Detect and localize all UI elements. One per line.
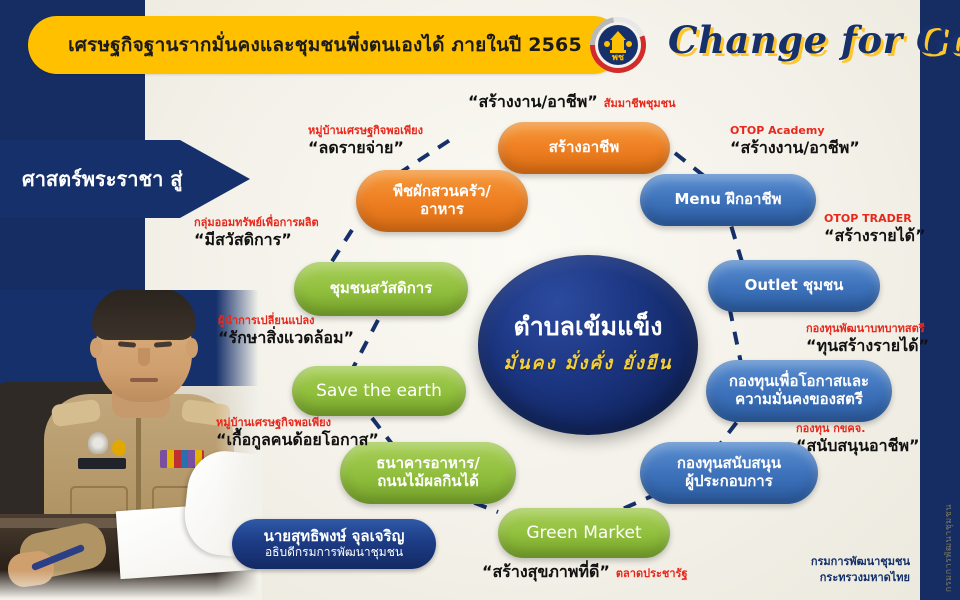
header-banner-title: เศรษฐกิจฐานรากมั่นคงและชุมชนพึ่งตนเองได้… — [68, 30, 582, 60]
right-navy-band: กรมการพัฒนาชุมชน — [920, 0, 960, 600]
annotation-otop-trader: OTOP TRADER “สร้างรายได้” — [824, 212, 926, 247]
annotation-mooban-kuea-quote: “เกื้อกูลคนด้อยโอกาส” — [216, 430, 379, 451]
annotation-bathabat: กองทุนพัฒนาบทบาทสตรี “ทุนสร้างรายได้” — [806, 322, 929, 357]
annotation-otop-academy: OTOP Academy “สร้างงาน/อาชีพ” — [730, 124, 860, 159]
annotation-otop-trader-source: OTOP TRADER — [824, 212, 926, 226]
director-name: นายสุทธิพงษ์ จุลเจริญ — [264, 528, 405, 545]
annotation-kkj: กองทุน กขคจ. “สนับสนุนอาชีพ” — [796, 422, 920, 457]
annotation-otop-trader-quote: “สร้างรายได้” — [824, 226, 926, 247]
annotation-mooban-lod: หมู่บ้านเศรษฐกิจพอเพียง “ลดรายจ่าย” — [308, 124, 423, 159]
node-menu-fuek-archeep[interactable]: Menu ฝึกอาชีพ — [640, 174, 816, 226]
annotation-klum-omsap: กลุ่มออมทรัพย์เพื่อการผลิต “มีสวัสดิการ” — [194, 216, 319, 251]
footer-line-1: กรมการพัฒนาชุมชน — [811, 554, 910, 570]
annotation-sammacheep: “สร้างงาน/อาชีพ” สัมมาชีพชุมชน — [468, 92, 676, 113]
annotation-talad-quote: “สร้างสุขภาพที่ดี” — [482, 562, 610, 583]
annotation-talad-source: ตลาดประชารัฐ — [616, 567, 688, 581]
director-position: อธิบดีกรมการพัฒนาชุมชน — [265, 545, 403, 559]
node-chumchon-sawatdikan[interactable]: ชุมชนสวัสดิการ — [294, 262, 468, 316]
annotation-mooban-lod-source: หมู่บ้านเศรษฐกิจพอเพียง — [308, 124, 423, 138]
header-banner: เศรษฐกิจฐานรากมั่นคงและชุมชนพึ่งตนเองได้… — [28, 16, 622, 74]
annotation-talad: “สร้างสุขภาพที่ดี” ตลาดประชารัฐ — [482, 562, 688, 583]
annotation-mooban-kuea-source: หมู่บ้านเศรษฐกิจพอเพียง — [216, 416, 379, 430]
footer-credit: กรมการพัฒนาชุมชน กระทรวงมหาดไทย — [811, 554, 910, 586]
royal-science-label: ศาสตร์พระราชา สู่ — [0, 163, 182, 195]
annotation-kkj-source: กองทุน กขคจ. — [796, 422, 920, 436]
footer-line-2: กระทรวงมหาดไทย — [811, 570, 910, 586]
node-save-the-earth[interactable]: Save the earth — [292, 366, 466, 416]
node-green-market[interactable]: Green Market — [498, 508, 670, 558]
annotation-kkj-quote: “สนับสนุนอาชีพ” — [796, 436, 920, 457]
annotation-phunam-quote: “รักษาสิ่งแวดล้อม” — [218, 328, 354, 349]
cdd-emblem-icon: พช — [588, 13, 652, 77]
infographic-canvas: กรมการพัฒนาชุมชน เศรษฐกิจฐานรากมั่นคงและ… — [0, 0, 960, 600]
annotation-mooban-lod-quote: “ลดรายจ่าย” — [308, 138, 423, 159]
node-puech-pak[interactable]: พืชผักสวนครัว/อาหาร — [356, 170, 528, 232]
svg-text:พช: พช — [612, 53, 624, 63]
annotation-bathabat-quote: “ทุนสร้างรายได้” — [806, 336, 929, 357]
annotation-mooban-kuea: หมู่บ้านเศรษฐกิจพอเพียง “เกื้อกูลคนด้อยโ… — [216, 416, 379, 451]
annotation-bathabat-source: กองทุนพัฒนาบทบาทสตรี — [806, 322, 929, 336]
director-nameplate: นายสุทธิพงษ์ จุลเจริญ อธิบดีกรมการพัฒนาช… — [232, 519, 436, 569]
annotation-phunam-source: ผู้นำการเปลี่ยนแปลง — [218, 314, 354, 328]
slogan-change-for-good: Change for Good — [668, 18, 960, 62]
hub-subtitle: มั่นคง มั่งคั่ง ยั่งยืน — [503, 348, 672, 377]
side-strip-vertical-text: กรมการพัฒนาชุมชน — [942, 504, 956, 592]
node-outlet-chumchon[interactable]: Outlet ชุมชน — [708, 260, 880, 312]
hub-title: ตำบลเข้มแข็ง — [514, 313, 663, 341]
node-kongthun-sanapsanun[interactable]: กองทุนสนับสนุนผู้ประกอบการ — [640, 442, 818, 504]
center-hub: ตำบลเข้มแข็ง มั่นคง มั่งคั่ง ยั่งยืน — [478, 255, 698, 435]
annotation-phunam: ผู้นำการเปลี่ยนแปลง “รักษาสิ่งแวดล้อม” — [218, 314, 354, 349]
annotation-sammacheep-source: สัมมาชีพชุมชน — [604, 97, 676, 111]
node-thanakan-ahan[interactable]: ธนาคารอาหาร/ถนนไม้ผลกินได้ — [340, 442, 516, 504]
annotation-otop-academy-quote: “สร้างงาน/อาชีพ” — [730, 138, 860, 159]
annotation-klum-omsap-quote: “มีสวัสดิการ” — [194, 230, 319, 251]
node-kongthun-okat[interactable]: กองทุนเพื่อโอกาสและความมั่นคงของสตรี — [706, 360, 892, 422]
node-sang-archeep[interactable]: สร้างอาชีพ — [498, 122, 670, 174]
annotation-klum-omsap-source: กลุ่มออมทรัพย์เพื่อการผลิต — [194, 216, 319, 230]
annotation-sammacheep-quote: “สร้างงาน/อาชีพ” — [468, 92, 598, 113]
annotation-otop-academy-source: OTOP Academy — [730, 124, 860, 138]
